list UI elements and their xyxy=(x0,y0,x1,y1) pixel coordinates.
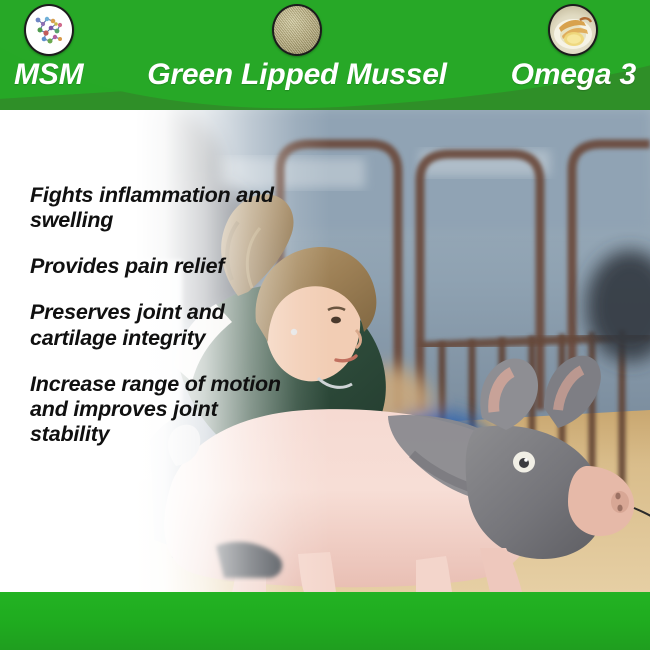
fish-oil-icon-graphic xyxy=(550,6,596,54)
ingredient-list: MSM Green Lipped Mussel xyxy=(0,0,650,100)
molecule-icon-graphic xyxy=(26,6,72,54)
benefit-item: Preserves joint and cartilage integrity xyxy=(30,300,282,350)
product-benefits-banner: MSM Green Lipped Mussel xyxy=(0,0,650,650)
ingredient-green-lipped-mussel: Green Lipped Mussel xyxy=(147,4,447,90)
footer-band xyxy=(0,592,650,650)
ingredient-label: MSM xyxy=(14,60,83,90)
benefit-item: Increase range of motion and improves jo… xyxy=(30,372,282,447)
benefit-item: Provides pain relief xyxy=(30,254,282,279)
ingredient-label: Omega 3 xyxy=(511,60,636,90)
mussel-powder-icon xyxy=(272,4,322,56)
ingredient-msm: MSM xyxy=(14,4,83,90)
ingredient-label: Green Lipped Mussel xyxy=(147,60,447,90)
benefit-item: Fights inflammation and swelling xyxy=(30,183,282,233)
benefits-list: Fights inflammation and swelling Provide… xyxy=(30,183,282,447)
fish-oil-icon xyxy=(548,4,598,56)
molecule-icon xyxy=(24,4,74,56)
ingredient-omega-3: Omega 3 xyxy=(511,4,636,90)
